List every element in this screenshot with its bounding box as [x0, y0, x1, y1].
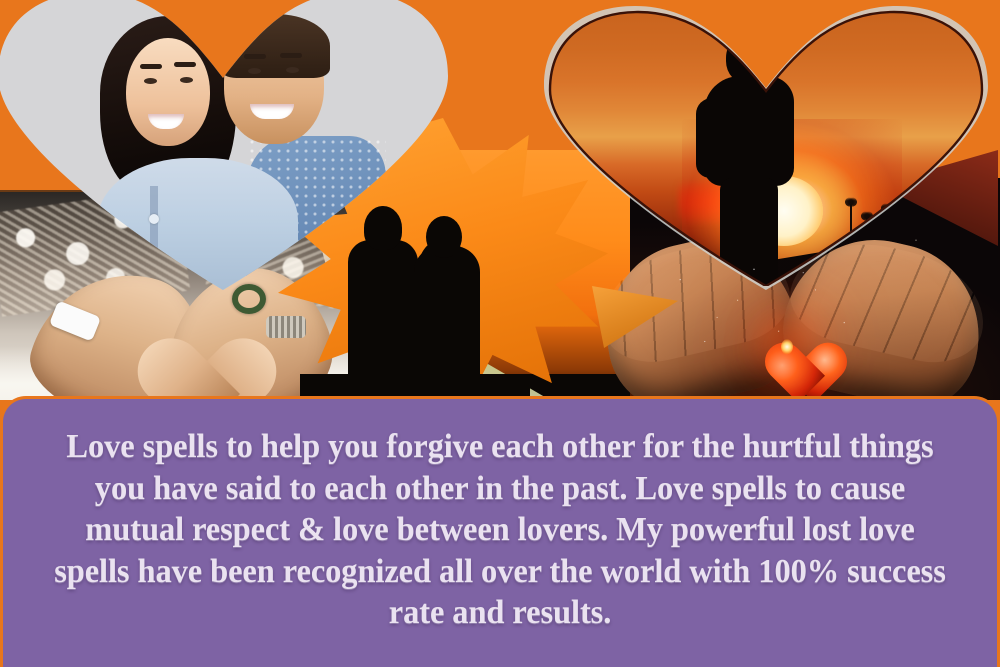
heart-candle-icon — [750, 318, 824, 384]
woman-eye-right — [180, 77, 193, 83]
poster-canvas: Love spells to help you forgive each oth… — [0, 0, 1000, 667]
man-brow-right — [280, 53, 302, 58]
message-panel: Love spells to help you forgive each oth… — [0, 396, 1000, 667]
couple-woman-head — [426, 216, 462, 258]
woman-face — [126, 38, 210, 146]
woman-eye-left — [144, 78, 157, 84]
flame-icon — [781, 340, 793, 355]
person-torso — [704, 76, 794, 186]
hands-heart-gesture — [110, 296, 238, 400]
woman-brow-right — [174, 62, 196, 67]
image-collage — [0, 0, 1000, 400]
message-text: Love spells to help you forgive each oth… — [49, 426, 951, 634]
man-eye-right — [286, 67, 299, 73]
couple-man-head — [364, 206, 402, 250]
man-eye-left — [248, 68, 261, 74]
woman-brow-left — [140, 64, 162, 69]
man-hair — [220, 14, 330, 78]
shirt-button — [149, 214, 159, 224]
man-brow-left — [244, 54, 266, 59]
